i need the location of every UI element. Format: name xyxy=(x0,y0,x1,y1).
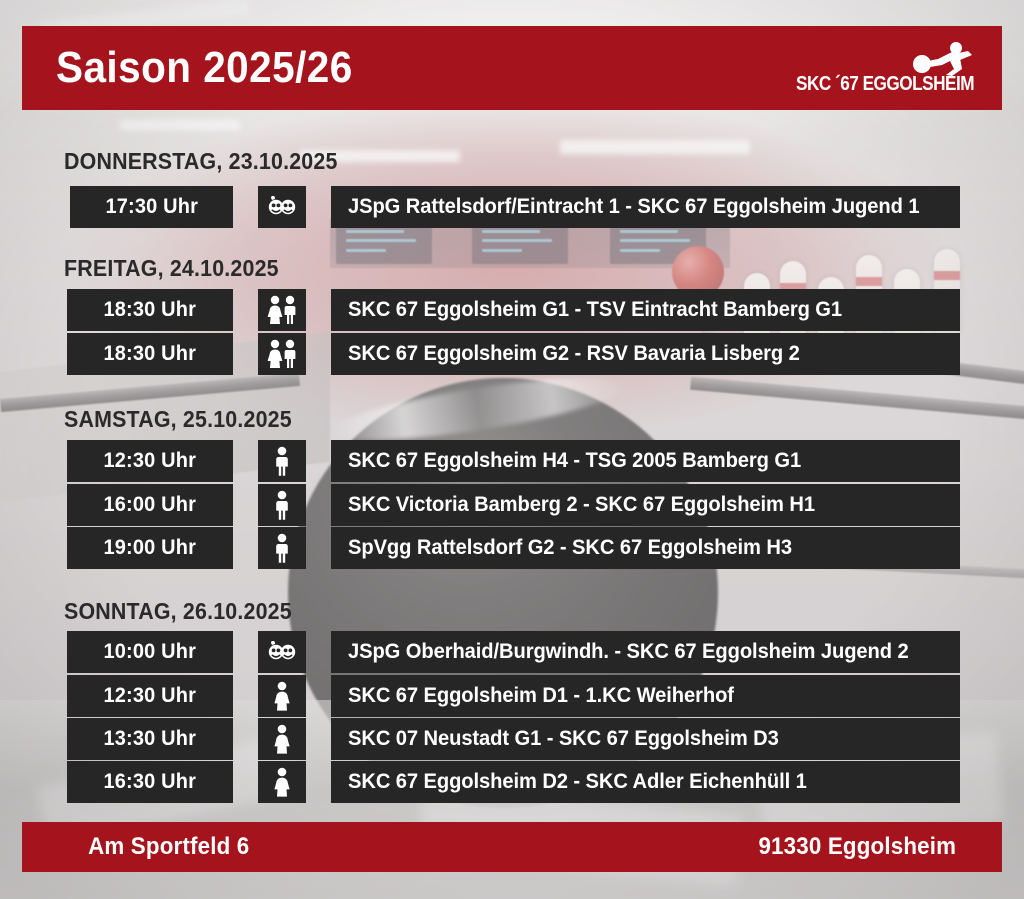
match-teams-text: SKC Victoria Bamberg 2 - SKC 67 Eggolshe… xyxy=(348,493,815,517)
match-teams-text: JSpG Rattelsdorf/Eintracht 1 - SKC 67 Eg… xyxy=(348,195,919,219)
match-teams: SKC 67 Eggolsheim H4 - TSG 2005 Bamberg … xyxy=(331,440,960,482)
match-teams: JSpG Rattelsdorf/Eintracht 1 - SKC 67 Eg… xyxy=(331,186,960,228)
match-teams: SKC 67 Eggolsheim G1 - TSV Eintracht Bam… xyxy=(331,289,960,331)
club-logo-text: SKC ´67 EGGOLSHEIM xyxy=(796,74,974,94)
match-teams: SpVgg Rattelsdorf G2 - SKC 67 Eggolsheim… xyxy=(331,527,960,569)
match-time: 16:30 Uhr xyxy=(67,761,233,803)
category-icon-cell xyxy=(258,631,306,673)
match-time: 17:30 Uhr xyxy=(70,186,233,228)
match-time-text: 17:30 Uhr xyxy=(105,195,198,219)
day-date-label: DONNERSTAG, 23.10.2025 xyxy=(64,148,338,175)
male-icon xyxy=(271,490,293,520)
category-icon-cell xyxy=(258,675,306,717)
footer-address-street: Am Sportfeld 6 xyxy=(82,833,255,861)
match-time: 16:00 Uhr xyxy=(67,484,233,526)
poster-header: Saison 2025/26 SKC ´67 EGGOLSHEIM xyxy=(22,26,1002,110)
match-time-text: 12:30 Uhr xyxy=(104,684,197,708)
match-time: 10:00 Uhr xyxy=(67,631,233,673)
match-time-text: 18:30 Uhr xyxy=(104,342,197,366)
day-date-label: FREITAG, 24.10.2025 xyxy=(64,255,279,282)
match-teams: SKC 67 Eggolsheim G2 - RSV Bavaria Lisbe… xyxy=(331,333,960,375)
day-date-label: SONNTAG, 26.10.2025 xyxy=(64,598,292,625)
match-teams-text: SKC 67 Eggolsheim H4 - TSG 2005 Bamberg … xyxy=(348,449,801,473)
match-time-text: 16:30 Uhr xyxy=(104,770,197,794)
match-teams-text: JSpG Oberhaid/Burgwindh. - SKC 67 Eggols… xyxy=(348,640,909,664)
match-teams-text: SKC 67 Eggolsheim D1 - 1.KC Weiherhof xyxy=(348,684,734,708)
page-title: Saison 2025/26 xyxy=(56,43,353,93)
match-time-text: 16:00 Uhr xyxy=(104,493,197,517)
day-date-label: SAMSTAG, 25.10.2025 xyxy=(64,406,292,433)
mixed-icon xyxy=(265,295,299,325)
match-teams-text: SKC 67 Eggolsheim D2 - SKC Adler Eichenh… xyxy=(348,770,807,794)
match-time: 12:30 Uhr xyxy=(67,675,233,717)
match-time: 18:30 Uhr xyxy=(67,289,233,331)
youth-icon xyxy=(267,196,297,218)
female-icon xyxy=(271,681,293,711)
poster-footer: Am Sportfeld 6 91330 Eggolsheim xyxy=(22,822,1002,872)
category-icon-cell xyxy=(258,761,306,803)
match-time-text: 12:30 Uhr xyxy=(104,449,197,473)
category-icon-cell xyxy=(258,186,306,228)
youth-icon xyxy=(267,641,297,663)
category-icon-cell xyxy=(258,718,306,760)
club-logo: SKC ´67 EGGOLSHEIM xyxy=(767,42,974,94)
match-teams: SKC 67 Eggolsheim D2 - SKC Adler Eichenh… xyxy=(331,761,960,803)
match-time-text: 18:30 Uhr xyxy=(104,298,197,322)
female-icon xyxy=(271,767,293,797)
category-icon-cell xyxy=(258,440,306,482)
male-icon xyxy=(271,446,293,476)
season-schedule-poster: Saison 2025/26 SKC ´67 EGGOLSHEIM DONNER… xyxy=(0,0,1024,899)
match-teams: SKC Victoria Bamberg 2 - SKC 67 Eggolshe… xyxy=(331,484,960,526)
footer-address-city: 91330 Eggolsheim xyxy=(751,833,964,861)
match-time: 18:30 Uhr xyxy=(67,333,233,375)
match-teams: SKC 07 Neustadt G1 - SKC 67 Eggolsheim D… xyxy=(331,718,960,760)
match-teams-text: SKC 07 Neustadt G1 - SKC 67 Eggolsheim D… xyxy=(348,727,779,751)
match-time: 12:30 Uhr xyxy=(67,440,233,482)
match-time: 19:00 Uhr xyxy=(67,527,233,569)
match-teams: SKC 67 Eggolsheim D1 - 1.KC Weiherhof xyxy=(331,675,960,717)
footer-address-street-text: Am Sportfeld 6 xyxy=(88,833,249,861)
category-icon-cell xyxy=(258,289,306,331)
bowler-figure-icon xyxy=(890,42,974,76)
match-time: 13:30 Uhr xyxy=(67,718,233,760)
match-time-text: 19:00 Uhr xyxy=(104,536,197,560)
male-icon xyxy=(271,533,293,563)
mixed-icon xyxy=(265,339,299,369)
match-teams-text: SKC 67 Eggolsheim G2 - RSV Bavaria Lisbe… xyxy=(348,342,800,366)
category-icon-cell xyxy=(258,333,306,375)
match-time-text: 13:30 Uhr xyxy=(104,727,197,751)
category-icon-cell xyxy=(258,527,306,569)
match-teams-text: SpVgg Rattelsdorf G2 - SKC 67 Eggolsheim… xyxy=(348,536,792,560)
match-teams: JSpG Oberhaid/Burgwindh. - SKC 67 Eggols… xyxy=(331,631,960,673)
match-teams-text: SKC 67 Eggolsheim G1 - TSV Eintracht Bam… xyxy=(348,298,842,322)
footer-address-city-text: 91330 Eggolsheim xyxy=(759,833,957,861)
category-icon-cell xyxy=(258,484,306,526)
female-icon xyxy=(271,724,293,754)
match-time-text: 10:00 Uhr xyxy=(104,640,197,664)
